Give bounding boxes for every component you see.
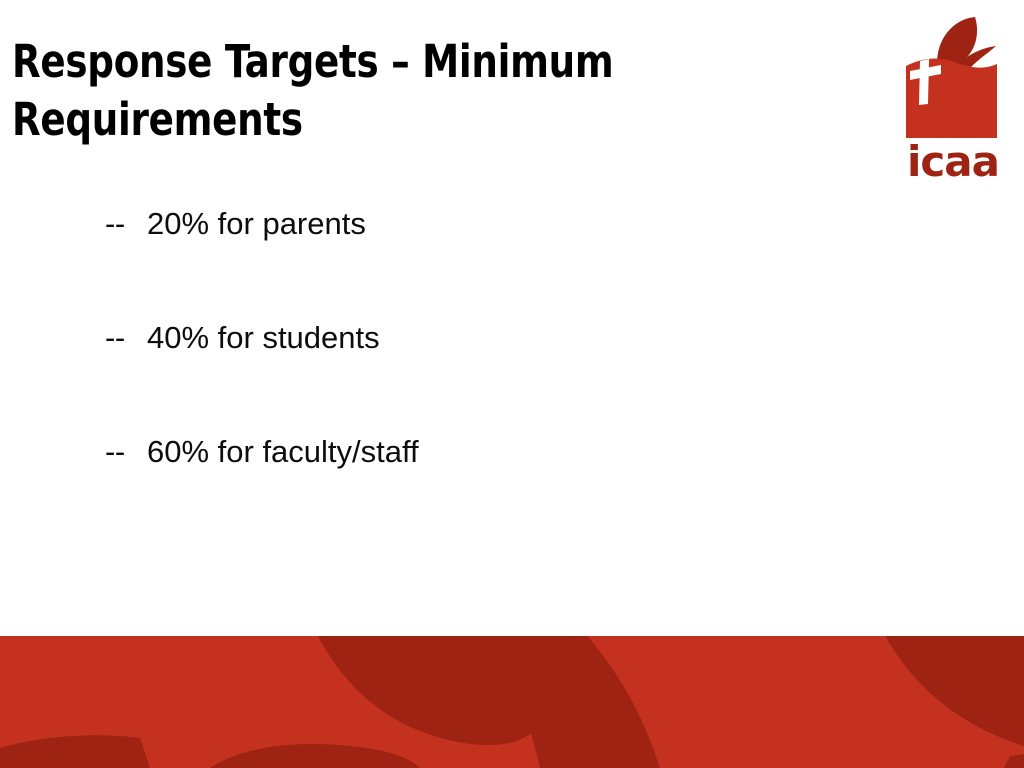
list-item: -- 40% for students	[105, 317, 805, 431]
bullet-marker: --	[105, 431, 147, 473]
bullet-text: 20% for parents	[147, 203, 366, 245]
list-item: -- 20% for parents	[105, 203, 805, 317]
slide-canvas: Response Targets – Minimum Requirements …	[0, 0, 1024, 768]
bullet-marker: --	[105, 203, 147, 245]
bullet-list: -- 20% for parents -- 40% for students -…	[105, 203, 805, 545]
bullet-text: 40% for students	[147, 317, 380, 359]
apple-watermark-icon	[0, 636, 1024, 768]
footer-band	[0, 636, 1024, 768]
bullet-marker: --	[105, 317, 147, 359]
list-item: -- 60% for faculty/staff	[105, 431, 805, 545]
page-title: Response Targets – Minimum Requirements	[12, 33, 712, 149]
icaa-logo: icaa	[896, 8, 1008, 180]
slide-title-text: Response Targets – Minimum Requirements	[12, 33, 656, 149]
logo-wordmark: icaa	[907, 137, 999, 180]
bullet-text: 60% for faculty/staff	[147, 431, 419, 473]
